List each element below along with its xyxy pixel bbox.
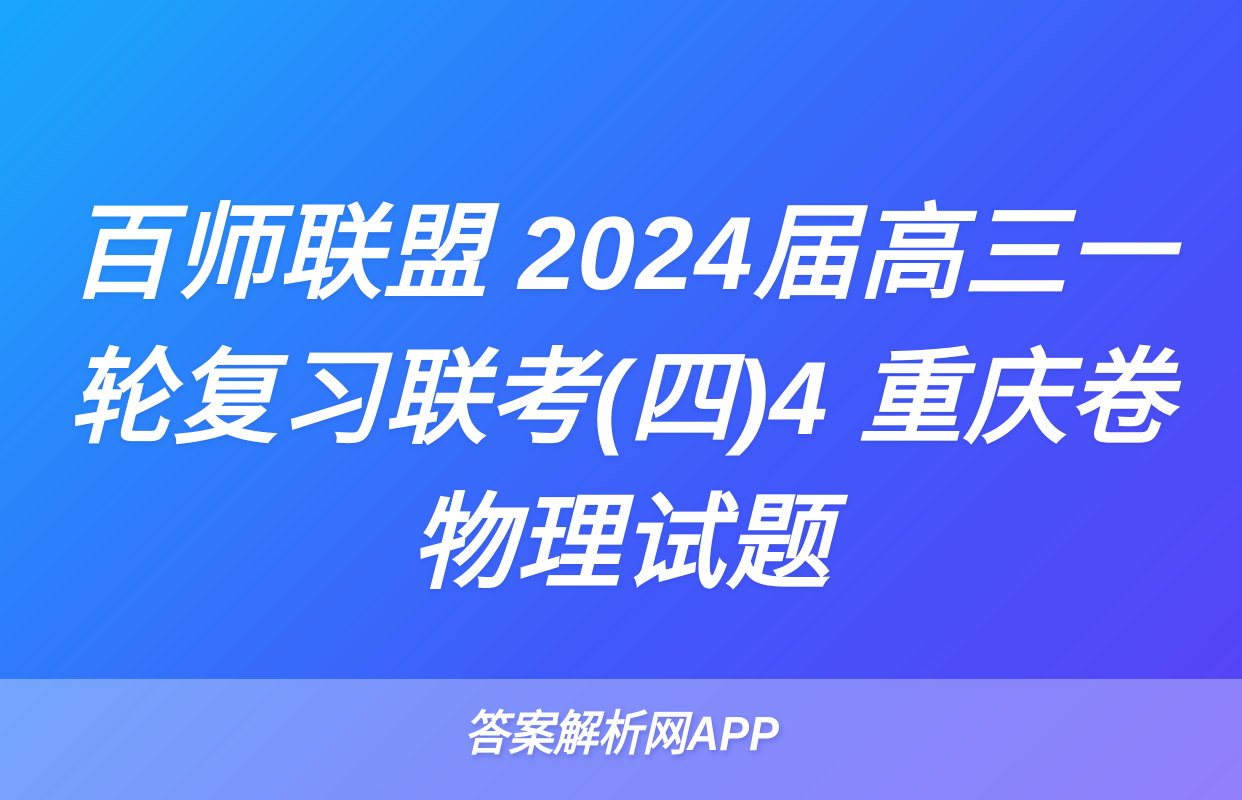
watermark-label: 答案解析网APP (463, 707, 778, 763)
title-line-2: 轮复习联考(四)4 重庆卷 (36, 327, 1206, 472)
page-title: 百师联盟 2024届高三一 轮复习联考(四)4 重庆卷 物理试题 (0, 182, 1242, 617)
title-line-3: 物理试题 (36, 472, 1206, 617)
watermark: 答案解析网APP (0, 707, 1242, 763)
exam-title-card: 百师联盟 2024届高三一 轮复习联考(四)4 重庆卷 物理试题 答案解析网AP… (0, 0, 1242, 800)
title-line-1: 百师联盟 2024届高三一 (36, 182, 1206, 327)
